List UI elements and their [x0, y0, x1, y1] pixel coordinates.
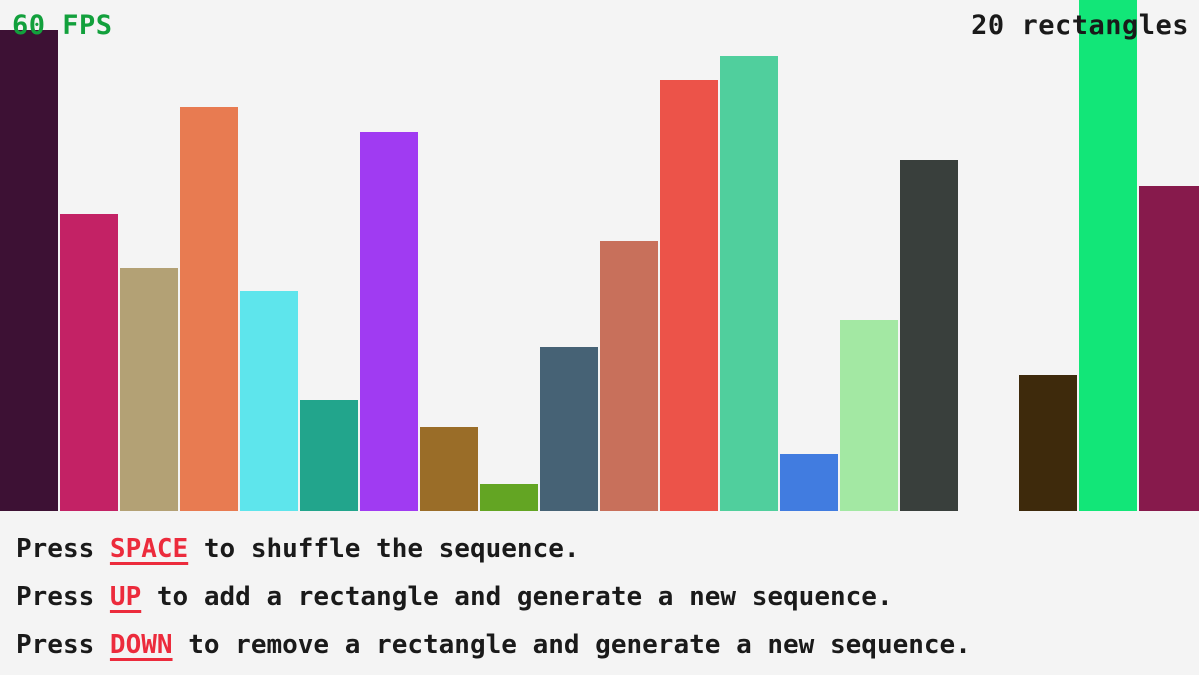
bar-rectangle — [60, 214, 118, 511]
instruction-suffix: to shuffle the sequence. — [188, 534, 579, 564]
bar-rectangle — [0, 30, 58, 511]
instruction-prefix: Press — [16, 630, 110, 660]
instruction-line: Press DOWN to remove a rectangle and gen… — [16, 621, 1183, 669]
bar-rectangle — [480, 484, 538, 511]
bar-rectangle — [240, 291, 298, 511]
fps-counter: 60 FPS — [12, 12, 113, 39]
bar-rectangle — [780, 454, 838, 511]
bar-rectangle — [600, 241, 658, 511]
bar-rectangle — [1139, 186, 1199, 511]
bar-rectangle — [300, 400, 358, 511]
instruction-line: Press UP to add a rectangle and generate… — [16, 573, 1183, 621]
keyboard-key-up[interactable]: UP — [110, 582, 141, 612]
bar-rectangle — [420, 427, 478, 511]
instruction-suffix: to add a rectangle and generate a new se… — [141, 582, 892, 612]
bar-rectangle — [1079, 0, 1137, 511]
game-canvas: 60 FPS 20 rectangles Press SPACE to shuf… — [0, 0, 1199, 675]
bar-rectangle — [1019, 375, 1077, 511]
bar-rectangle — [180, 107, 238, 511]
instruction-prefix: Press — [16, 534, 110, 564]
instruction-suffix: to remove a rectangle and generate a new… — [173, 630, 971, 660]
rectangle-sequence-chart — [0, 0, 1199, 511]
bar-rectangle — [120, 268, 178, 511]
bar-rectangle — [900, 160, 958, 511]
bar-rectangle — [660, 80, 718, 511]
instructions-panel: Press SPACE to shuffle the sequence.Pres… — [0, 511, 1199, 675]
keyboard-key-down[interactable]: DOWN — [110, 630, 173, 660]
bar-rectangle — [540, 347, 598, 511]
instruction-prefix: Press — [16, 582, 110, 612]
instruction-line: Press SPACE to shuffle the sequence. — [16, 525, 1183, 573]
bar-rectangle — [360, 132, 418, 511]
rectangle-count-label: 20 rectangles — [971, 12, 1189, 39]
keyboard-key-space[interactable]: SPACE — [110, 534, 188, 564]
bar-rectangle — [720, 56, 778, 511]
bar-rectangle — [840, 320, 898, 511]
